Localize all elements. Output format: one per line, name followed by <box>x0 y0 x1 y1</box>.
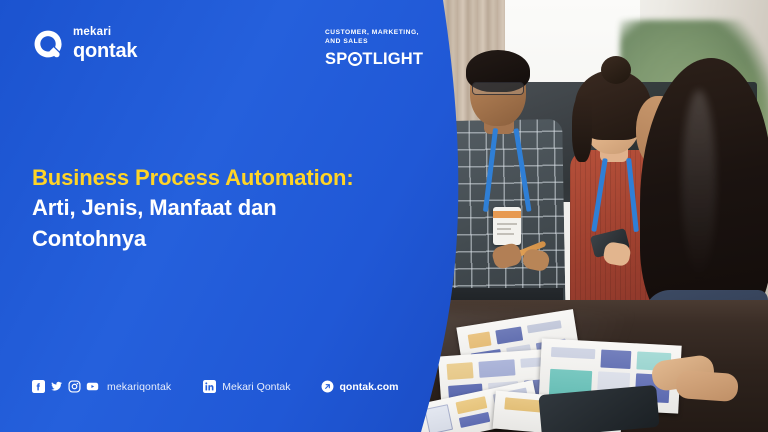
title-line-1: Business Process Automation: <box>32 163 432 193</box>
page-title: Business Process Automation: Arti, Jenis… <box>32 163 432 254</box>
footer-bar: mekariqontak Mekari Qontak qontak.com <box>32 380 398 393</box>
facebook-icon[interactable] <box>32 380 45 393</box>
spotlight-kicker-line1: CUSTOMER, MARKETING, <box>325 28 423 37</box>
spotlight-kicker-line2: AND SALES <box>325 37 423 46</box>
spotlight-text-part2: TLIGHT <box>362 50 423 69</box>
linkedin-label: Mekari Qontak <box>222 381 290 393</box>
banner-canvas: mekari qontak CUSTOMER, MARKETING, AND S… <box>0 0 768 432</box>
logo-qontak-text: qontak <box>73 41 137 61</box>
logo-mekari-text: mekari <box>73 27 137 39</box>
title-line-2: Arti, Jenis, Manfaat dan <box>32 193 432 223</box>
youtube-icon[interactable] <box>86 380 99 393</box>
mekari-qontak-logo[interactable]: mekari qontak <box>32 27 137 61</box>
social-icon-row <box>32 380 99 393</box>
website-label: qontak.com <box>340 381 399 393</box>
spotlight-o-circle-icon <box>348 52 362 66</box>
logo-wordmark: mekari qontak <box>73 27 137 61</box>
title-line-3: Contohnya <box>32 224 432 254</box>
linkedin-group[interactable]: Mekari Qontak <box>203 380 290 393</box>
spotlight-wordmark: SP TLIGHT <box>325 50 423 69</box>
external-link-arrow-icon[interactable] <box>321 380 334 393</box>
spotlight-badge: CUSTOMER, MARKETING, AND SALES SP TLIGHT <box>325 28 423 69</box>
instagram-icon[interactable] <box>68 380 81 393</box>
social-handle-group[interactable]: mekariqontak <box>32 380 171 393</box>
linkedin-icon[interactable] <box>203 380 216 393</box>
website-group[interactable]: qontak.com <box>321 380 399 393</box>
qontak-q-logo-icon <box>32 28 64 60</box>
twitter-icon[interactable] <box>50 380 63 393</box>
social-handle-label: mekariqontak <box>107 381 171 393</box>
spotlight-text-part1: SP <box>325 50 347 69</box>
